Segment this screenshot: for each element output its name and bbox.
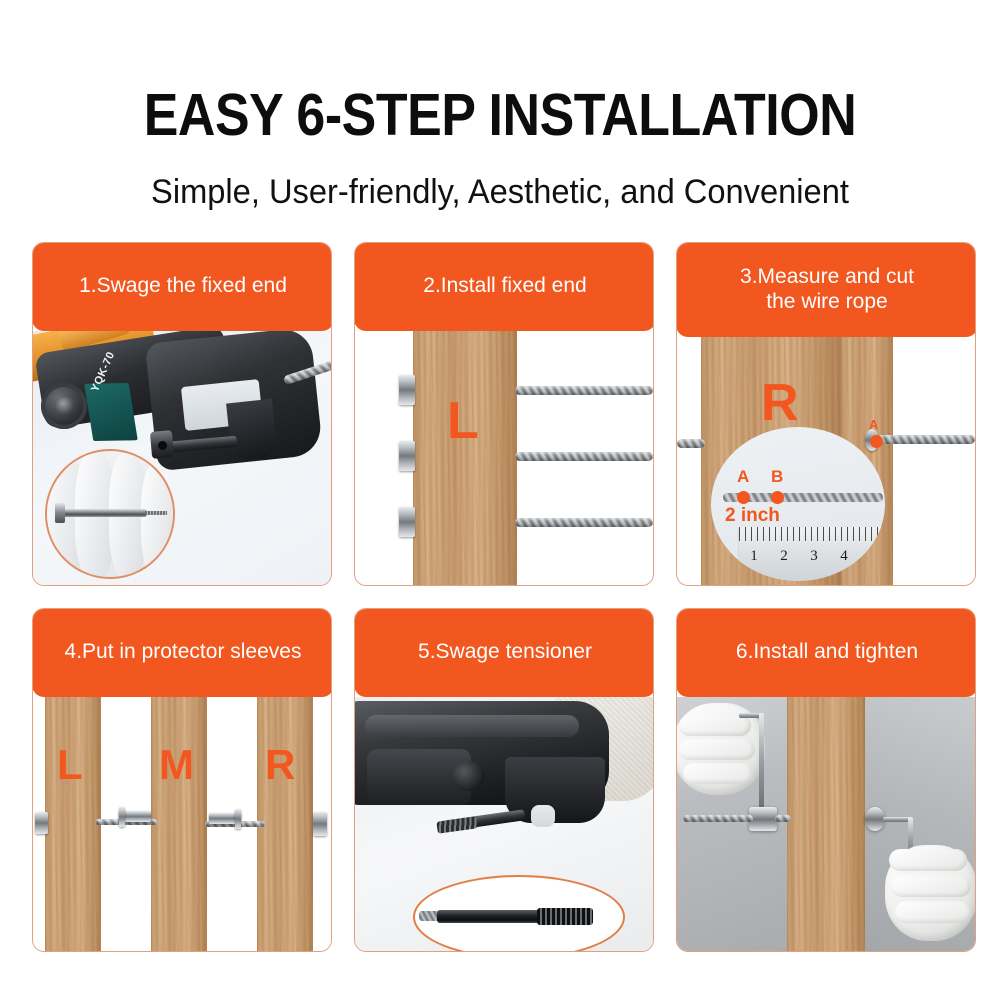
step-3-header: 3.Measure and cut the wire rope <box>676 242 976 337</box>
inset-dot-a <box>737 491 750 504</box>
wire-rope-left <box>677 439 705 448</box>
inset-stud-head <box>55 503 65 523</box>
fitting-2 <box>399 441 415 471</box>
step-5-image <box>355 697 653 951</box>
wire-rope-1 <box>515 386 653 395</box>
fitting-3 <box>399 507 415 537</box>
step-5-header: 5.Swage tensioner <box>354 608 654 697</box>
right-tensioner-fitting <box>865 807 885 831</box>
left-finger-2 <box>679 739 755 760</box>
post-label-l: L <box>57 741 83 789</box>
crimper-cap-hole <box>55 397 75 415</box>
infographic-page: EASY 6-STEP INSTALLATION Simple, User-fr… <box>0 0 1000 1000</box>
inset-dot-b <box>771 491 784 504</box>
wire-rope-right <box>877 435 975 444</box>
step-panel-4[interactable]: 4.Put in protector sleeves L M R <box>32 608 332 952</box>
wood-post-left <box>413 331 517 585</box>
marker-dot-a <box>870 435 883 448</box>
step-6-image <box>677 697 975 951</box>
step-1-image: YQK-70 <box>33 331 331 585</box>
inset-stud-thread <box>145 511 167 515</box>
left-wire-rope-stub <box>775 815 791 822</box>
step-6-header: 6.Install and tighten <box>676 608 976 697</box>
step-4-header: 4.Put in protector sleeves <box>32 608 332 697</box>
sleeve-flange-1 <box>119 807 125 827</box>
step-2-header: 2.Install fixed end <box>354 242 654 331</box>
step-panel-2[interactable]: 2.Install fixed end L <box>354 242 654 586</box>
end-fitting-right <box>313 812 327 836</box>
step-3-image: R A A B 2 inch 1 <box>677 331 975 585</box>
ruler-number-4: 4 <box>829 548 859 565</box>
step-panel-5[interactable]: 5.Swage tensioner <box>354 608 654 952</box>
fitting-1 <box>399 375 415 405</box>
measure-label: 2 inch <box>725 505 780 527</box>
ruler-number-2: 2 <box>769 548 799 565</box>
page-subtitle: Simple, User-friendly, Aesthetic, and Co… <box>20 172 980 213</box>
step-4-image: L M R <box>33 697 331 951</box>
ruler-number-5: 5 <box>859 548 885 565</box>
post-label-m: M <box>159 741 194 789</box>
ruler-number-3: 3 <box>799 548 829 565</box>
crimper-jaw-notch <box>531 805 555 827</box>
inset-tensioner-thread <box>537 908 593 925</box>
step-1-header: 1.Swage the fixed end <box>32 242 332 331</box>
post-label-r: R <box>265 741 295 789</box>
post-label-l: L <box>447 391 479 451</box>
wood-post-l <box>45 697 101 951</box>
wood-post <box>787 697 865 951</box>
crimper-label-plate <box>84 383 137 441</box>
left-finger-3 <box>683 763 753 784</box>
wire-rope-2 <box>515 452 653 461</box>
inset-label-b: B <box>771 467 783 487</box>
left-finger-1 <box>679 715 751 736</box>
step-1-inset-circle <box>45 449 175 579</box>
step-3-header-line1: 3.Measure and cut <box>740 265 914 288</box>
step-panel-3[interactable]: 3.Measure and cut the wire rope R A A <box>676 242 976 586</box>
step-5-inset-oval <box>413 875 625 951</box>
inset-swaged-stud <box>61 509 147 517</box>
ruler: 1 2 3 4 5 <box>739 527 885 581</box>
step-panel-1[interactable]: 1.Swage the fixed end YQK-70 <box>32 242 332 586</box>
inset-label-a: A <box>737 467 749 487</box>
wood-post-r <box>257 697 313 951</box>
crimper-hook <box>226 399 278 461</box>
right-finger-2 <box>891 875 971 897</box>
right-finger-3 <box>895 901 971 923</box>
marker-label-a: A <box>869 417 878 432</box>
ruler-numbers: 1 2 3 4 5 <box>739 545 885 567</box>
end-fitting-left <box>35 812 48 834</box>
left-tensioner-fitting <box>749 807 777 831</box>
crimper-ridge <box>365 715 579 737</box>
page-title: EASY 6-STEP INSTALLATION <box>60 86 940 145</box>
wood-post-m <box>151 697 207 951</box>
steps-grid: 1.Swage the fixed end YQK-70 <box>32 242 976 952</box>
measurement-inset: A B 2 inch 1 2 3 4 5 <box>711 427 885 581</box>
right-finger-1 <box>889 849 967 871</box>
step-2-image: L <box>355 331 653 585</box>
wire-rope-3 <box>515 518 653 527</box>
step-panel-6[interactable]: 6.Install and tighten <box>676 608 976 952</box>
step-3-header-line2: the wire rope <box>766 290 887 313</box>
post-label-r: R <box>761 373 799 433</box>
crimper-die-knob <box>451 761 485 791</box>
ruler-ticks <box>739 527 885 541</box>
sleeve-flange-2 <box>235 809 241 829</box>
ruler-number-1: 1 <box>739 548 769 565</box>
left-wire-rope <box>683 815 753 822</box>
left-hex-key-long-arm <box>759 713 764 809</box>
